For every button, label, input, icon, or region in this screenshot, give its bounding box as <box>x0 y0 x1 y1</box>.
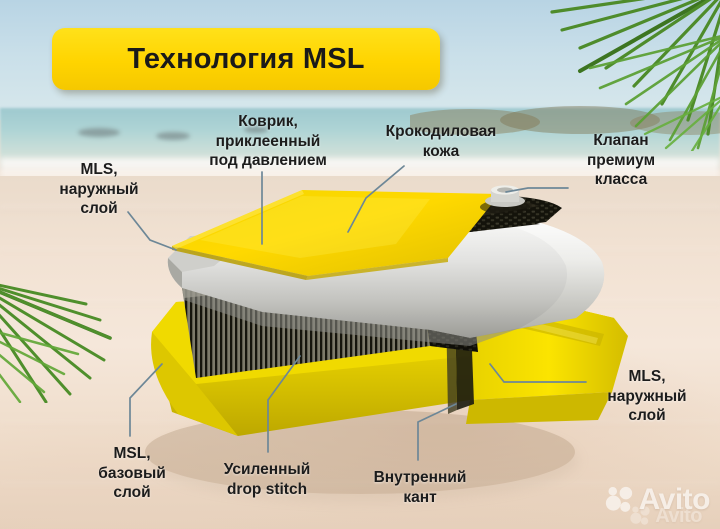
label-msl-base-layer: MSL, базовый слой <box>78 444 186 503</box>
leader-premium-valve <box>506 188 568 192</box>
label-crocodile-skin: Крокодиловая кожа <box>366 122 516 161</box>
leader-mls-outer-bottom-right <box>490 364 586 382</box>
banner-title: Технология MSL <box>127 43 364 76</box>
label-premium-valve: Клапан премиум класса <box>566 131 676 190</box>
label-reinforced-drop-stitch: Усиленный drop stitch <box>196 460 338 499</box>
infographic-canvas: Технология MSL MLS, наружный слой Коврик… <box>0 0 720 529</box>
label-inner-rail: Внутренний кант <box>352 468 488 507</box>
leader-reinforced-drop-stitch <box>268 356 300 452</box>
label-pressure-glued-mat: Коврик, приклеенный под давлением <box>188 112 348 171</box>
avito-watermark: Avito <box>604 485 710 515</box>
leader-crocodile-skin <box>348 166 404 232</box>
avito-dots-icon <box>604 485 634 515</box>
title-banner: Технология MSL <box>52 28 440 90</box>
label-mls-outer-top-left: MLS, наружный слой <box>44 160 154 219</box>
avito-wordmark: Avito <box>639 485 710 515</box>
leader-msl-base-layer <box>130 364 162 436</box>
label-mls-outer-bottom-right: MLS, наружный слой <box>592 367 702 426</box>
leader-inner-rail <box>418 404 456 460</box>
